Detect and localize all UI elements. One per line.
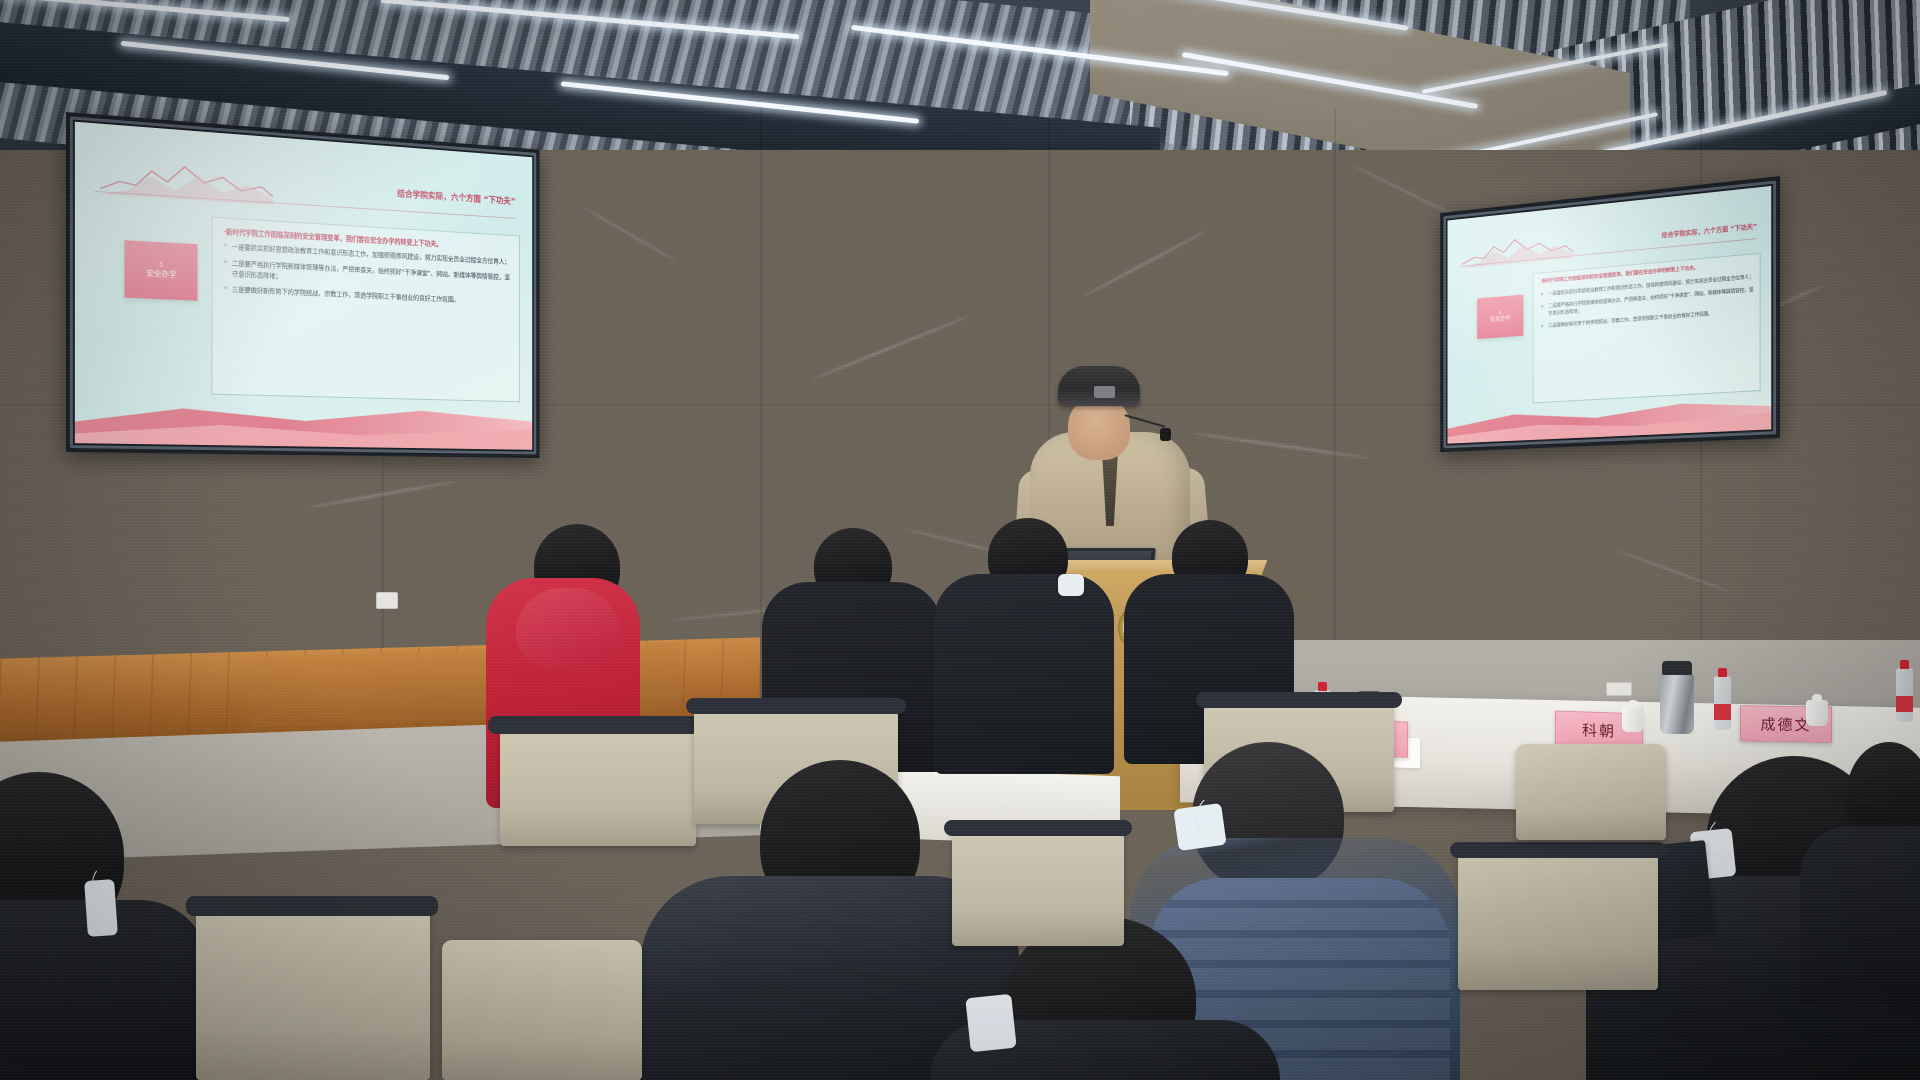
seat-front-5[interactable]: [1516, 744, 1666, 840]
badge-caption-side: 安全办学: [1490, 315, 1510, 324]
nameplate-2-text: 科朝: [1582, 719, 1616, 741]
water-bottle-2: [1714, 676, 1731, 730]
conference-room-photo: 结合学院实际，六个方面 “下功夫” 5 安全办学 ·新时代学院工作面临深刻的安全…: [0, 0, 1920, 1080]
water-bottle-3: [1896, 668, 1913, 722]
table-card-holder: [1606, 682, 1632, 696]
seat-frame-mid-1: [488, 716, 702, 734]
seat-frame-mid-2: [686, 698, 906, 714]
seat-front-1[interactable]: [196, 906, 430, 1080]
seat-frame-front-1: [186, 896, 438, 916]
seat-frame-mid-3: [1196, 692, 1402, 708]
seat-frame-front-4: [1450, 842, 1666, 858]
face-mask-icon: [1058, 574, 1084, 596]
mask-ear-loop-icon: [92, 866, 118, 902]
slide-title-main: 结合学院实际，六个方面 “下功夫”: [397, 187, 515, 207]
slide-section-badge: 5 安全办学: [125, 240, 198, 300]
seat-front-4[interactable]: [1458, 850, 1658, 990]
secondary-projection-screen[interactable]: 结合学院实际，六个方面 “下功夫” 5 安全办学 ·新时代学院工作面临深刻的安全…: [1440, 176, 1780, 452]
slide-canvas-main: 结合学院实际，六个方面 “下功夫” 5 安全办学 ·新时代学院工作面临深刻的安全…: [75, 122, 532, 450]
nameplate-3-text: 成德文: [1760, 713, 1811, 735]
mountain-motif-icon-side: [1462, 228, 1573, 268]
seat-frame-front-3: [944, 820, 1132, 836]
seat-mid-1[interactable]: [500, 726, 696, 846]
wall-outlet: [376, 592, 398, 609]
slide-section-badge-side: 5 安全办学: [1477, 294, 1523, 338]
attendee-hood: [516, 588, 620, 668]
teacup-2: [1806, 700, 1828, 726]
attendee-torso: [934, 574, 1114, 774]
seat-front-3[interactable]: [952, 828, 1124, 946]
microphone-head-icon: [1160, 428, 1171, 441]
slide-title-side: 结合学院实际，六个方面 “下功夫”: [1662, 220, 1758, 239]
thermos-flask-1: [1660, 672, 1694, 734]
slide-canvas-side: 结合学院实际，六个方面 “下功夫” 5 安全办学 ·新时代学院工作面临深刻的安全…: [1448, 186, 1772, 444]
face-mask-icon: [965, 994, 1016, 1053]
teacup-1: [1622, 706, 1644, 732]
badge-caption: 安全办学: [146, 269, 176, 280]
primary-projection-screen[interactable]: 结合学院实际，六个方面 “下功夫” 5 安全办学 ·新时代学院工作面临深刻的安全…: [66, 112, 540, 458]
speaker-cap: [1058, 366, 1140, 406]
seat-front-2[interactable]: [442, 940, 642, 1080]
attendee-torso: [1800, 826, 1920, 1006]
